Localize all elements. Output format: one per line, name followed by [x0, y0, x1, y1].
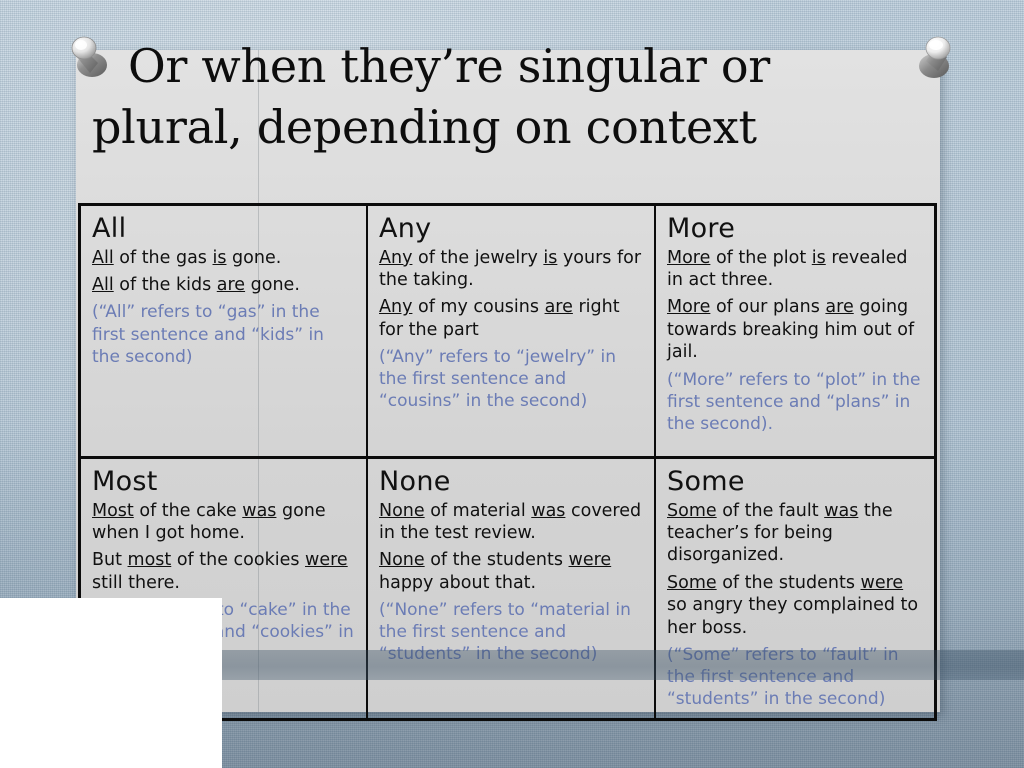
example-sentence: More of our plans are going towards brea…	[667, 296, 924, 363]
reference-note: (“Some” refers to “fault” in the first s…	[667, 644, 924, 710]
underlined-term: was	[824, 501, 858, 521]
underlined-term: None	[379, 501, 425, 521]
cell-heading: More	[667, 214, 924, 244]
page-title-line-2: plural, depending on context	[92, 97, 942, 158]
underlined-term: was	[242, 501, 276, 521]
underlined-term: All	[92, 248, 114, 268]
underlined-term: were	[305, 550, 348, 570]
table-cell-all: AllAll of the gas is gone.All of the kid…	[81, 206, 366, 456]
table-row: AllAll of the gas is gone.All of the kid…	[81, 206, 934, 456]
sentence-text: gone.	[226, 248, 281, 268]
sentence-text: of the jewelry	[412, 248, 543, 268]
table-cell-more: MoreMore of the plot is revealed in act …	[654, 206, 934, 456]
example-sentence: None of the students were happy about th…	[379, 549, 644, 594]
cell-heading: Some	[667, 467, 924, 497]
reference-note: (“All” refers to “gas” in the first sent…	[92, 301, 356, 367]
table-cell-some: SomeSome of the fault was the teacher’s …	[654, 459, 934, 718]
sentence-text: But	[92, 550, 128, 570]
example-sentence: Any of the jewelry is yours for the taki…	[379, 247, 644, 292]
sentence-text: of the cookies	[171, 550, 305, 570]
sentence-text: of material	[425, 501, 532, 521]
example-sentence: More of the plot is revealed in act thre…	[667, 247, 924, 292]
underlined-term: Some	[667, 501, 717, 521]
example-sentence: But most of the cookies were still there…	[92, 549, 356, 594]
table-cell-none: NoneNone of material was covered in the …	[366, 459, 654, 718]
reference-note: (“More” refers to “plot” in the first se…	[667, 369, 924, 435]
sentence-text: of the gas	[114, 248, 213, 268]
underlined-term: None	[379, 550, 425, 570]
example-sentence: Most of the cake was gone when I got hom…	[92, 500, 356, 545]
sentence-text: of the plot	[710, 248, 811, 268]
white-rectangle-overlay	[0, 598, 222, 768]
underlined-term: were	[861, 573, 904, 593]
sentence-text: of the fault	[717, 501, 825, 521]
underlined-term: is	[213, 248, 227, 268]
underlined-term: Any	[379, 297, 412, 317]
underlined-term: More	[667, 248, 710, 268]
example-sentence: Any of my cousins are right for the part	[379, 296, 644, 341]
sentence-text: still there.	[92, 573, 180, 593]
cell-heading: None	[379, 467, 644, 497]
underlined-term: Any	[379, 248, 412, 268]
example-sentence: All of the gas is gone.	[92, 247, 356, 269]
reference-note: (“Any” refers to “jewelry” in the first …	[379, 346, 644, 412]
slide-canvas: Or when they’re singular or plural, depe…	[0, 0, 1024, 768]
underlined-term: All	[92, 275, 114, 295]
underlined-term: Some	[667, 573, 717, 593]
underlined-term: is	[812, 248, 826, 268]
pushpin-icon-left	[68, 33, 112, 85]
sentence-text: of the cake	[134, 501, 242, 521]
cell-heading: Most	[92, 467, 356, 497]
sentence-text: so angry they complained to her boss.	[667, 595, 918, 637]
sentence-text: gone.	[245, 275, 300, 295]
underlined-term: are	[545, 297, 573, 317]
page-title: Or when they’re singular or plural, depe…	[92, 36, 942, 158]
example-sentence: All of the kids are gone.	[92, 274, 356, 296]
example-sentence: None of material was covered in the test…	[379, 500, 644, 545]
cell-heading: Any	[379, 214, 644, 244]
underlined-term: was	[531, 501, 565, 521]
reference-note: (“None” refers to “material in the first…	[379, 599, 644, 665]
underlined-term: are	[217, 275, 245, 295]
page-title-line-1: Or when they’re singular or	[92, 36, 942, 97]
sentence-text: of our plans	[710, 297, 825, 317]
sentence-text: of the students	[425, 550, 569, 570]
sentence-text: of my cousins	[412, 297, 544, 317]
underlined-term: are	[825, 297, 853, 317]
cell-heading: All	[92, 214, 356, 244]
underlined-term: Most	[92, 501, 134, 521]
pushpin-icon-right	[914, 33, 958, 85]
sentence-text: happy about that.	[379, 573, 536, 593]
sentence-text: of the students	[717, 573, 861, 593]
example-sentence: Some of the students were so angry they …	[667, 572, 924, 639]
example-sentence: Some of the fault was the teacher’s for …	[667, 500, 924, 567]
underlined-term: were	[569, 550, 612, 570]
underlined-term: most	[128, 550, 172, 570]
underlined-term: More	[667, 297, 710, 317]
sentence-text: of the kids	[114, 275, 217, 295]
underlined-term: is	[543, 248, 557, 268]
table-cell-any: AnyAny of the jewelry is yours for the t…	[366, 206, 654, 456]
